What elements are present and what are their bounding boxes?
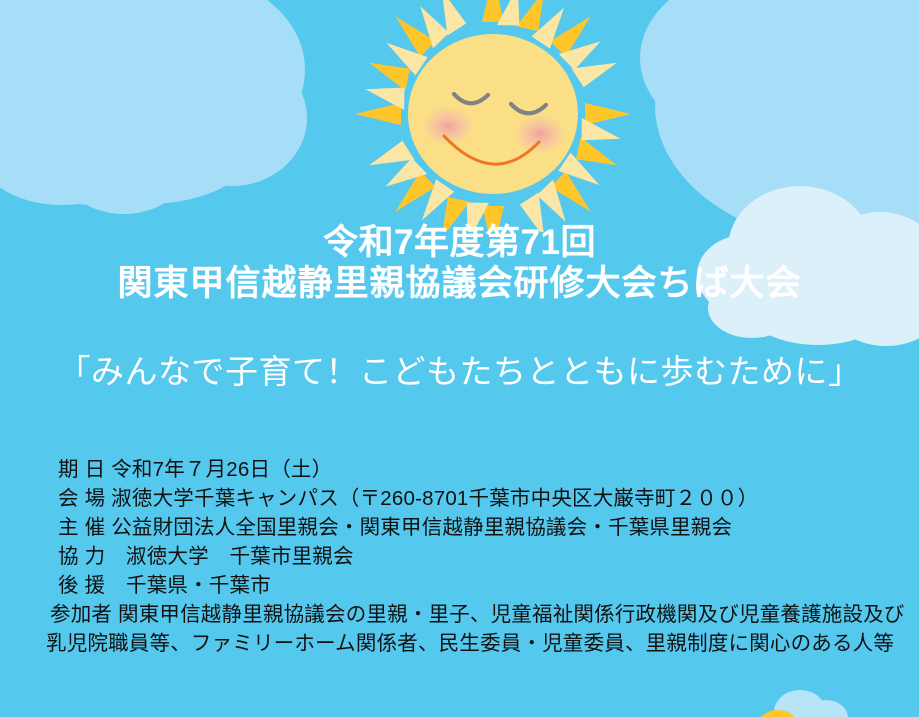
detail-participants-line2: 乳児院職員等、ファミリーホーム関係者、民生委員・児童委員、里親制度に関心のある人… [46, 629, 888, 658]
title-line-2: 関東甲信越静里親協議会研修大会ちば大会 [0, 263, 919, 304]
detail-participants-line1: 参加者 関東甲信越静里親協議会の里親・里子、児童福祉関係行政機関及び児童養護施設… [50, 600, 888, 629]
detail-support: 後 援 千葉県・千葉市 [58, 571, 888, 600]
poster-canvas: 令和7年度第71回 関東甲信越静里親協議会研修大会ちば大会 「みんなで子育て！こ… [0, 0, 919, 717]
poster-subtitle: 「みんなで子育て！こどもたちとともに歩むために」 [0, 352, 919, 392]
detail-venue: 会 場 淑徳大学千葉キャンパス（〒260-8701千葉市中央区大巌寺町２００） [58, 484, 888, 513]
poster-title-block: 令和7年度第71回 関東甲信越静里親協議会研修大会ちば大会 [0, 222, 919, 304]
poster-details-block: 期 日 令和7年７月26日（土） 会 場 淑徳大学千葉キャンパス（〒260-87… [58, 455, 888, 658]
sun-illustration [348, 0, 638, 232]
title-line-1: 令和7年度第71回 [0, 222, 919, 263]
detail-cooperation: 協 力 淑徳大学 千葉市里親会 [58, 542, 888, 571]
sun-blush-right [514, 114, 566, 154]
detail-organizer: 主 催 公益財団法人全国里親会・関東甲信越静里親協議会・千葉県里親会 [58, 513, 888, 542]
detail-date: 期 日 令和7年７月26日（土） [58, 455, 888, 484]
